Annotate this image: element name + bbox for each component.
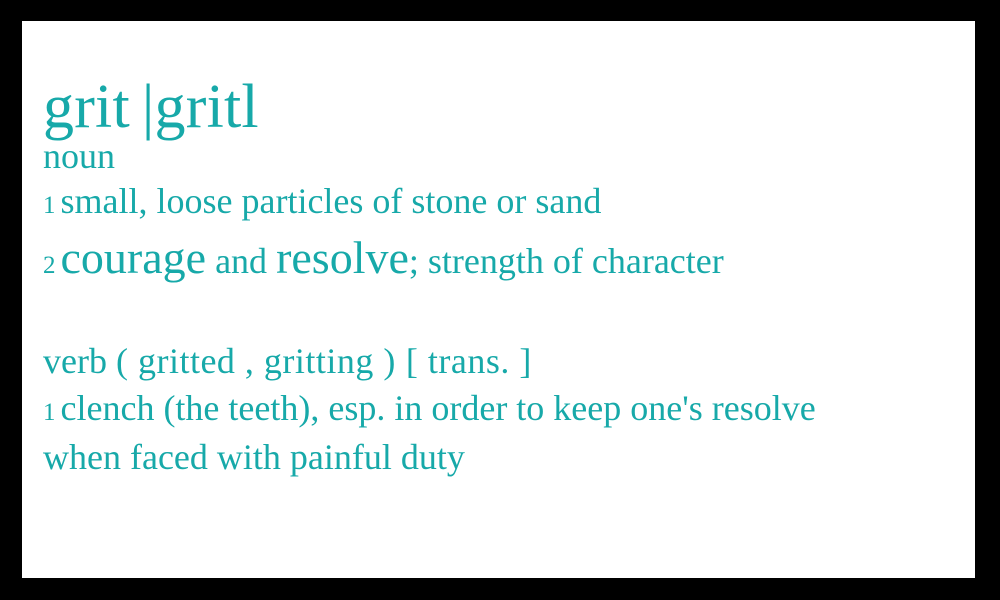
verb-head-line: verb ( gritted , gritting )[ trans. ] (43, 338, 975, 385)
verb-sense-1-number: 1 (43, 399, 57, 426)
entry-block-gap (43, 292, 975, 338)
part-of-speech-verb: verb (43, 341, 107, 381)
dictionary-card: grit|gritl noun 1small, loose particles … (22, 21, 975, 578)
noun-sense-1: 1small, loose particles of stone or sand (43, 177, 975, 225)
part-of-speech-noun: noun (43, 136, 975, 177)
noun-sense-2: 2courage and resolve; strength of charac… (43, 225, 975, 291)
dictionary-entry: grit|gritl noun 1small, loose particles … (43, 79, 975, 481)
headword: grit (43, 73, 130, 141)
pronunciation: |gritl (142, 73, 259, 141)
verb-grammar-label: [ trans. ] (406, 341, 532, 381)
noun-sense-1-text: small, loose particles of stone or sand (61, 181, 602, 221)
verb-sense-1-line-2: when faced with painful duty (43, 433, 975, 481)
noun-sense-2-emphasis-two: resolve (276, 232, 409, 283)
verb-inflections: ( gritted , gritting ) (116, 341, 396, 381)
noun-sense-2-emphasis-one: courage (61, 232, 207, 283)
headword-line: grit|gritl (43, 79, 975, 136)
noun-sense-2-tail: ; strength of character (409, 241, 724, 281)
noun-sense-1-number: 1 (43, 192, 57, 219)
verb-sense-1-line-1: 1clench (the teeth), esp. in order to ke… (43, 384, 975, 432)
noun-sense-2-number: 2 (43, 252, 57, 279)
dictionary-card-frame: grit|gritl noun 1small, loose particles … (0, 0, 1000, 600)
noun-sense-2-connector: and (215, 241, 267, 281)
verb-sense-1-text-line-1: clench (the teeth), esp. in order to kee… (61, 388, 816, 428)
